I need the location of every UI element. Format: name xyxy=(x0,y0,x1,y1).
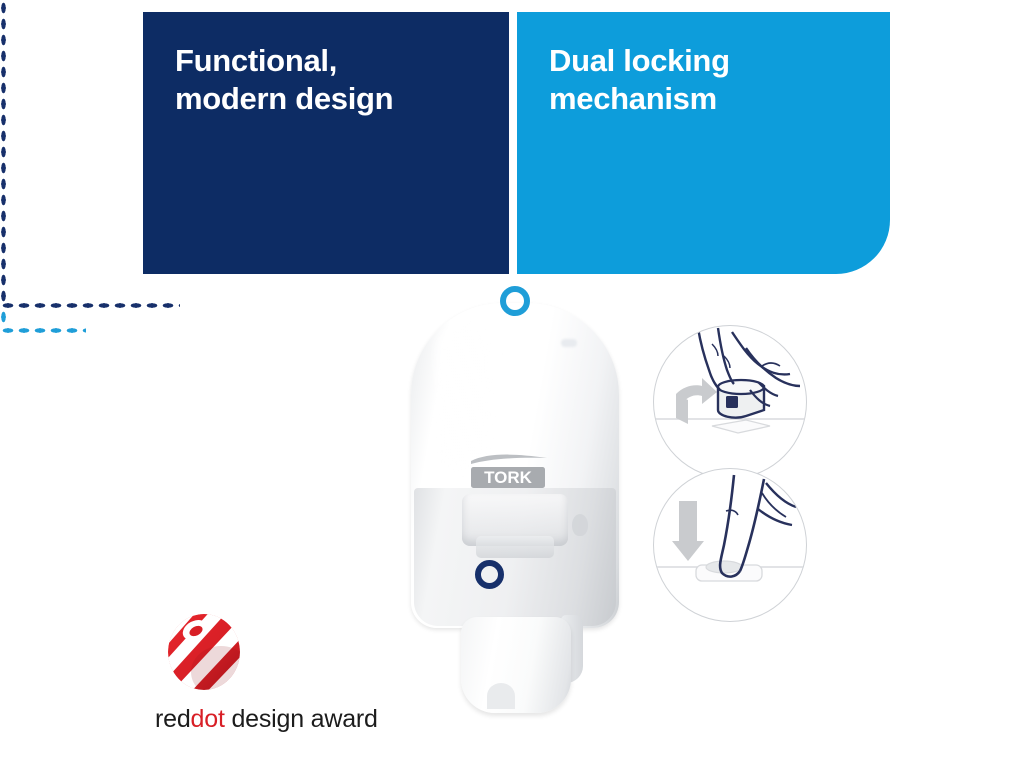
panel-dual-locking-mechanism: Dual locking mechanism xyxy=(517,12,890,274)
tork-logo-text: TORK xyxy=(484,468,533,487)
instruction-press-down-button xyxy=(653,468,807,622)
marker-dispenser-front-lock[interactable] xyxy=(475,560,504,589)
marker-dispenser-top-lock[interactable] xyxy=(500,286,530,316)
panel-functional-modern-design: Functional, modern design xyxy=(143,12,509,274)
tork-logo: TORK xyxy=(463,451,555,491)
reddot-text-dot: dot xyxy=(191,705,225,733)
soap-dispenser-image: TORK xyxy=(411,303,619,723)
down-arrow-icon xyxy=(672,501,704,561)
dispenser-highlight-2 xyxy=(561,339,577,347)
dispenser-push-lever[interactable] xyxy=(461,617,571,713)
reddot-design-award: reddot design award xyxy=(155,610,415,740)
rotate-arrow-icon xyxy=(676,378,717,424)
reddot-sphere-logo xyxy=(165,610,243,692)
tork-logo-svg: TORK xyxy=(463,451,555,491)
blue-connector-vertical-line xyxy=(0,309,7,327)
reddot-text-red: red xyxy=(155,705,191,733)
dispenser-window xyxy=(414,488,616,626)
instruction-turn-key-lock xyxy=(653,325,807,479)
dispenser-soap-blob xyxy=(572,514,588,536)
dispenser-pump-stem xyxy=(476,536,554,558)
blue-connector-horizontal-line xyxy=(0,327,86,334)
finger-pressing-icon xyxy=(654,469,804,619)
poster-canvas: Functional, modern design Dual locking m… xyxy=(0,0,1024,768)
reddot-text-designaward: design award xyxy=(225,705,378,733)
hand-turning-key-icon xyxy=(654,326,804,476)
panel-title-dual-locking-mechanism: Dual locking mechanism xyxy=(549,42,864,117)
navy-connector-vertical-line xyxy=(0,0,7,302)
dispenser-lever-notch xyxy=(487,683,515,709)
dispenser-body: TORK xyxy=(411,303,619,628)
panel-title-functional-modern-design: Functional, modern design xyxy=(175,42,483,117)
reddot-sphere-svg xyxy=(165,610,243,692)
navy-connector-horizontal-line xyxy=(0,302,180,309)
reddot-award-text: reddot design award xyxy=(155,705,415,734)
